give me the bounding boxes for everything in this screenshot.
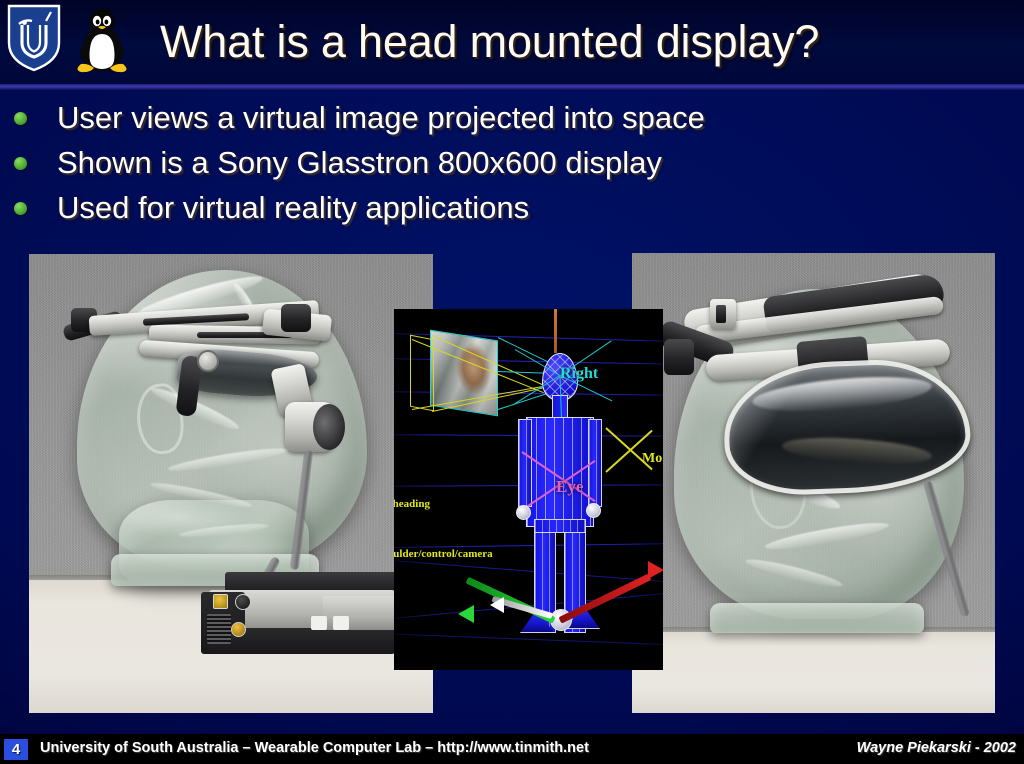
bullet-text: User views a virtual image projected int…: [57, 100, 705, 136]
table-surface: [632, 632, 995, 713]
render-label-eye: Eye: [556, 477, 583, 497]
control-box-switch: [311, 616, 327, 630]
bullet-text: Used for virtual reality applications: [57, 190, 529, 226]
vertical-pole: [554, 309, 557, 353]
sony-glasstron-hmd-closeup-on-glass-head: [632, 253, 995, 713]
slide-canvas: What is a head mounted display? User vie…: [0, 0, 1024, 764]
slide-footer: 4 University of South Australia – Wearab…: [0, 734, 1024, 764]
render-label-heading: on/heading: [394, 498, 430, 510]
footer-author-text: Wayne Piekarski - 2002: [857, 740, 1016, 756]
control-box-switch-2: [333, 616, 349, 630]
tux-linux-penguin-logo: [72, 6, 132, 74]
glass-mannequin-head-with-sony-glasstron-hmd-side-view: [29, 254, 433, 713]
footer-affiliation-text: University of South Australia – Wearable…: [40, 740, 589, 756]
bullet-list: User views a virtual image projected int…: [0, 95, 1024, 230]
avatar-hand-right: [586, 503, 601, 518]
bullet-dot-icon: [14, 202, 27, 215]
render-label-right: Right: [560, 365, 598, 383]
render-label-shoulder-control-camera: tion/shoulder/control/camera: [394, 548, 493, 560]
control-box-port-round: [235, 594, 251, 610]
hmd-rear-pad: [281, 304, 311, 332]
bullet-dot-icon: [14, 157, 27, 170]
control-box-port-yellow: [213, 594, 228, 609]
list-item: Used for virtual reality applications: [0, 185, 1024, 230]
bullet-dot-icon: [14, 112, 27, 125]
control-box-vent: [207, 614, 231, 644]
hmd-earpiece-cushion: [313, 404, 345, 450]
list-item: User views a virtual image projected int…: [0, 95, 1024, 140]
hmd-microphone-pivot: [197, 350, 219, 372]
hmd-strap-buckle: [664, 339, 694, 375]
hmd-hinge-slot: [716, 305, 726, 323]
university-of-south-australia-shield-logo: [6, 3, 62, 73]
x-axis-arrowhead: [648, 561, 663, 579]
avatar-hand-left: [516, 505, 531, 520]
avatar-hip: [534, 519, 586, 533]
page-number-badge: 4: [4, 739, 28, 760]
control-box-port-round-2: [231, 622, 246, 637]
list-item: Shown is a Sony Glasstron 800x600 displa…: [0, 140, 1024, 185]
avatar-torso: [526, 417, 594, 527]
z-axis-arrowhead: [490, 597, 504, 613]
sony-glasstron-control-box: [201, 572, 401, 670]
tinmith-3d-wireframe-avatar-render: Right Eye Mo on/heading tion/shoulder/co…: [394, 309, 663, 670]
bullet-text: Shown is a Sony Glasstron 800x600 displa…: [57, 145, 662, 181]
page-title: What is a head mounted display?: [160, 5, 1020, 79]
glass-head-base: [710, 603, 924, 633]
avatar-shoulder-left: [518, 419, 532, 507]
y-axis-arrowhead: [458, 605, 474, 623]
header-divider: [0, 84, 1024, 90]
